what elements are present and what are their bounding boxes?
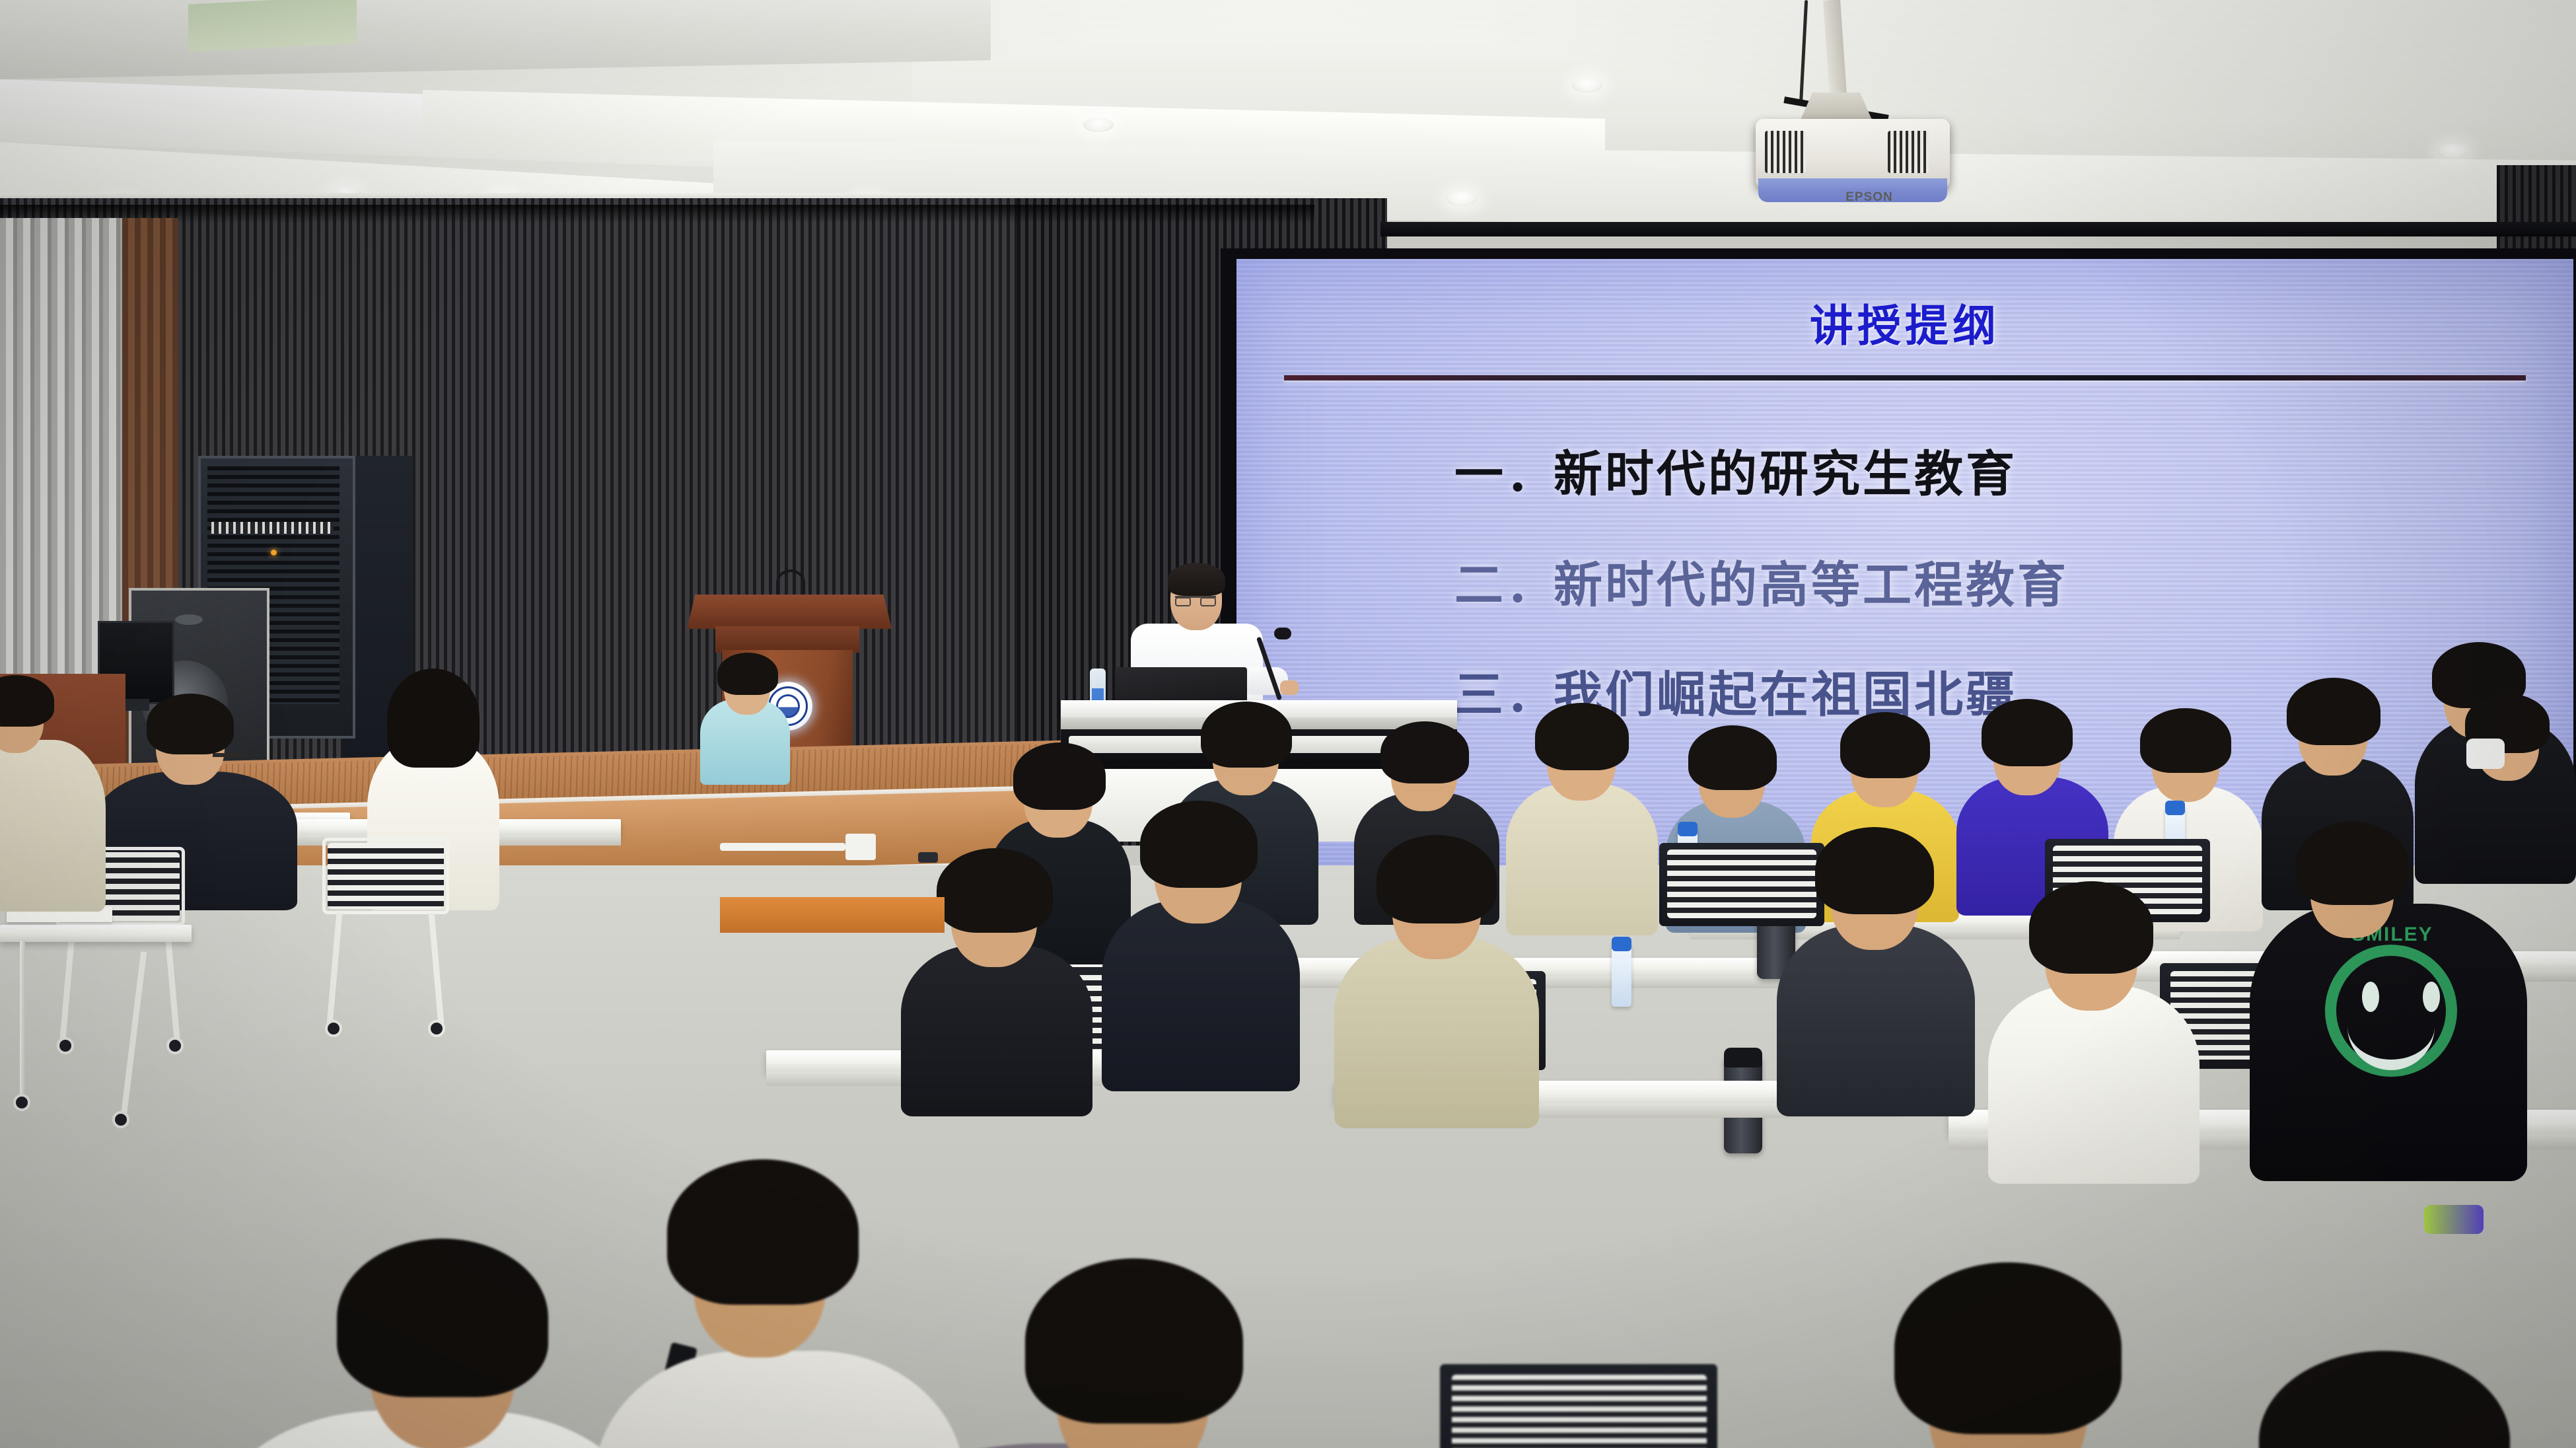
stage-cable-trim [720, 843, 845, 851]
person-hair [1840, 712, 1930, 778]
chair-back-slats [1452, 1375, 1707, 1448]
person-hair [1535, 703, 1629, 770]
ceiling-green-reflection [188, 0, 357, 52]
podium-top [687, 595, 892, 629]
person-torso [0, 740, 106, 912]
slide-bullet-2-text: 新时代的高等工程教育 [1554, 558, 2069, 612]
person-torso [1506, 783, 1658, 935]
downlight-icon [1083, 118, 1114, 132]
smiley-eye-left [2362, 982, 2379, 1012]
person-hair [937, 848, 1053, 933]
person-torso [1334, 937, 1539, 1128]
projector-vent-right [1888, 131, 1929, 173]
chair-back-slats [1667, 850, 1816, 918]
podium-neck [715, 626, 859, 653]
slide-bullet-3-text: 我们崛起在祖国北疆 [1554, 667, 2017, 722]
person-hair [1140, 801, 1258, 888]
table-caster [13, 1094, 30, 1111]
person-torso [1988, 986, 2200, 1184]
projector-brand-label: EPSON [1830, 190, 1909, 205]
person-hair [1815, 827, 1934, 914]
downlight-icon [1572, 78, 1602, 92]
person-hair [2140, 708, 2231, 773]
person-hair [1013, 742, 1106, 810]
slide-bullet-3-number: 三． [1454, 655, 1554, 726]
slide-bullet-3: 三．我们崛起在祖国北疆 [1454, 655, 2017, 726]
slide-divider-rule [1284, 375, 2526, 380]
person-torso [901, 945, 1092, 1116]
chair-frame [322, 838, 449, 914]
downlight-icon [1447, 192, 1477, 206]
person-hair-foreground [337, 1239, 548, 1397]
person-hair [717, 653, 778, 695]
person-torso [1102, 900, 1300, 1091]
glasses-icon [213, 753, 244, 757]
podium-microphone-gooseneck [776, 569, 805, 596]
smiley-eye-right [2423, 982, 2440, 1012]
slide-bullet-2-number: 二． [1454, 546, 1554, 616]
slide-bullet-1-number: 一． [1454, 435, 1554, 505]
screen-top-rail [1380, 222, 2576, 236]
stage-connector [918, 852, 938, 863]
person-hair [1982, 699, 2073, 766]
person-hair [1377, 835, 1497, 923]
water-bottle-cap [1678, 822, 1698, 836]
chair-caster [166, 1037, 184, 1054]
slide-title: 讲授提纲 [1236, 291, 2573, 354]
water-bottle-cap [1612, 937, 1631, 951]
downlight-icon [2437, 144, 2468, 159]
person-hair [2287, 678, 2380, 745]
person-hair [2296, 822, 2408, 905]
person-hair [1380, 721, 1469, 783]
wood-trim-panel [720, 897, 945, 933]
person-hair [1201, 702, 1292, 768]
table-row-left-near [0, 925, 192, 942]
person-hair-foreground [1894, 1262, 2122, 1434]
person-hair [387, 669, 480, 768]
person-hair [1688, 725, 1777, 790]
av-rack-indicator-icon [271, 550, 277, 556]
glasses-icon [1175, 596, 1216, 607]
person-hair [2029, 881, 2153, 974]
wall-top-shadow [0, 205, 1314, 223]
desk-accessory [2424, 1205, 2484, 1234]
person-hair-foreground [667, 1159, 859, 1305]
presenter-hair [1168, 563, 1225, 596]
table-leg [20, 941, 25, 1099]
person-torso [1777, 925, 1975, 1116]
thermos-cap [1724, 1048, 1762, 1068]
microphone-head-icon [1274, 628, 1291, 639]
stage-power-box [845, 834, 876, 860]
slide-bullet-2: 二．新时代的高等工程教育 [1454, 546, 2069, 616]
chair-caster [428, 1020, 445, 1037]
slide-bullet-1: 一．新时代的研究生教育 [1454, 435, 2017, 505]
presenter-hand [1280, 680, 1299, 695]
chair-caster [57, 1037, 74, 1054]
chair-caster [112, 1111, 129, 1128]
water-bottle-cap [2165, 801, 2185, 815]
projector-vent-left [1765, 131, 1806, 173]
chair-caster [325, 1020, 342, 1037]
av-rack-led-strip [211, 522, 334, 534]
person-hair-foreground [1025, 1258, 1243, 1424]
face-mask [2466, 739, 2505, 769]
slide-bullet-1-text: 新时代的研究生教育 [1554, 447, 2017, 501]
lecture-hall-photo: EPSON 讲授提纲 一．新时代的研究生教育 二．新时代的高等工程教育 三．我们… [0, 0, 2576, 1448]
speaker-tweeter-icon [175, 614, 203, 625]
person-hair [147, 694, 234, 754]
